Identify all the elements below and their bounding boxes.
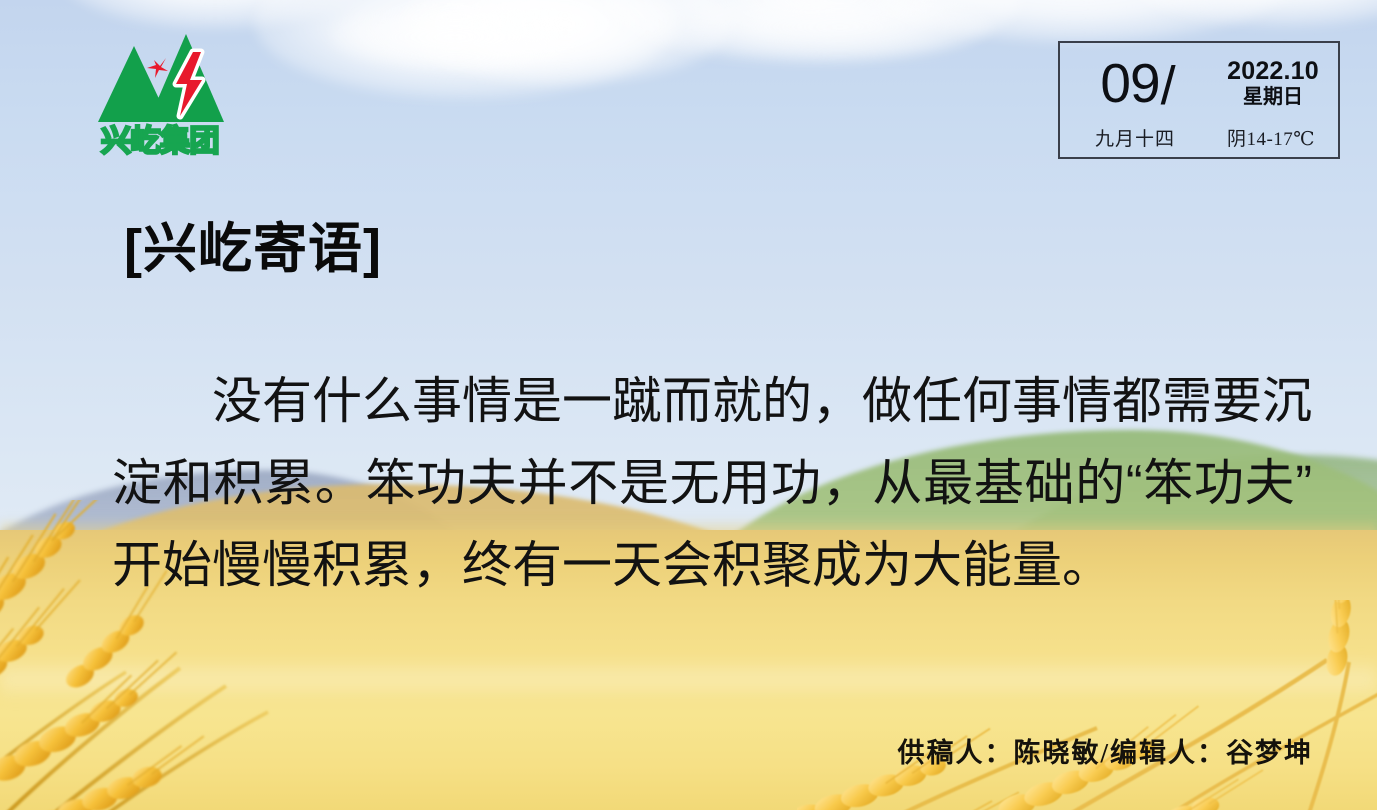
year-month: 2022.10 (1212, 57, 1334, 85)
day-group: 09 / (1060, 56, 1212, 111)
lunar-date: 九月十四 (1060, 124, 1210, 151)
wheat-stalks-right (997, 600, 1377, 810)
logo-company-text: 兴屹集团 (101, 125, 219, 158)
brand-logo[interactable]: 兴屹集团 (92, 32, 228, 160)
message-body: 没有什么事情是一蹴而就的，做任何事情都需要沉淀和积累。笨功夫并不是无用功，从最基… (112, 360, 1312, 606)
logo-wordmark: 兴屹集团 (92, 120, 228, 160)
year-month-group: 2022.10 星期日 (1212, 57, 1338, 109)
weekday: 星期日 (1212, 85, 1334, 109)
mountain-lightning-icon (92, 32, 228, 124)
date-card: 09 / 2022.10 星期日 九月十四 阴14-17℃ (1058, 41, 1340, 159)
weather-info: 阴14-17℃ (1210, 124, 1338, 151)
date-card-top-row: 09 / 2022.10 星期日 (1060, 47, 1338, 119)
day-number: 09 (1100, 56, 1159, 111)
section-title: [兴屹寄语] (124, 222, 382, 276)
day-separator: / (1161, 59, 1176, 113)
date-card-bottom-row: 九月十四 阴14-17℃ (1060, 121, 1338, 153)
credits-line: 供稿人：陈晓敏/编辑人：谷梦坤 (897, 731, 1313, 770)
poster-canvas: 兴屹集团 09 / 2022.10 星期日 九月十四 阴14-17℃ [兴屹寄语… (0, 0, 1377, 810)
cloud-shape (330, 6, 580, 68)
